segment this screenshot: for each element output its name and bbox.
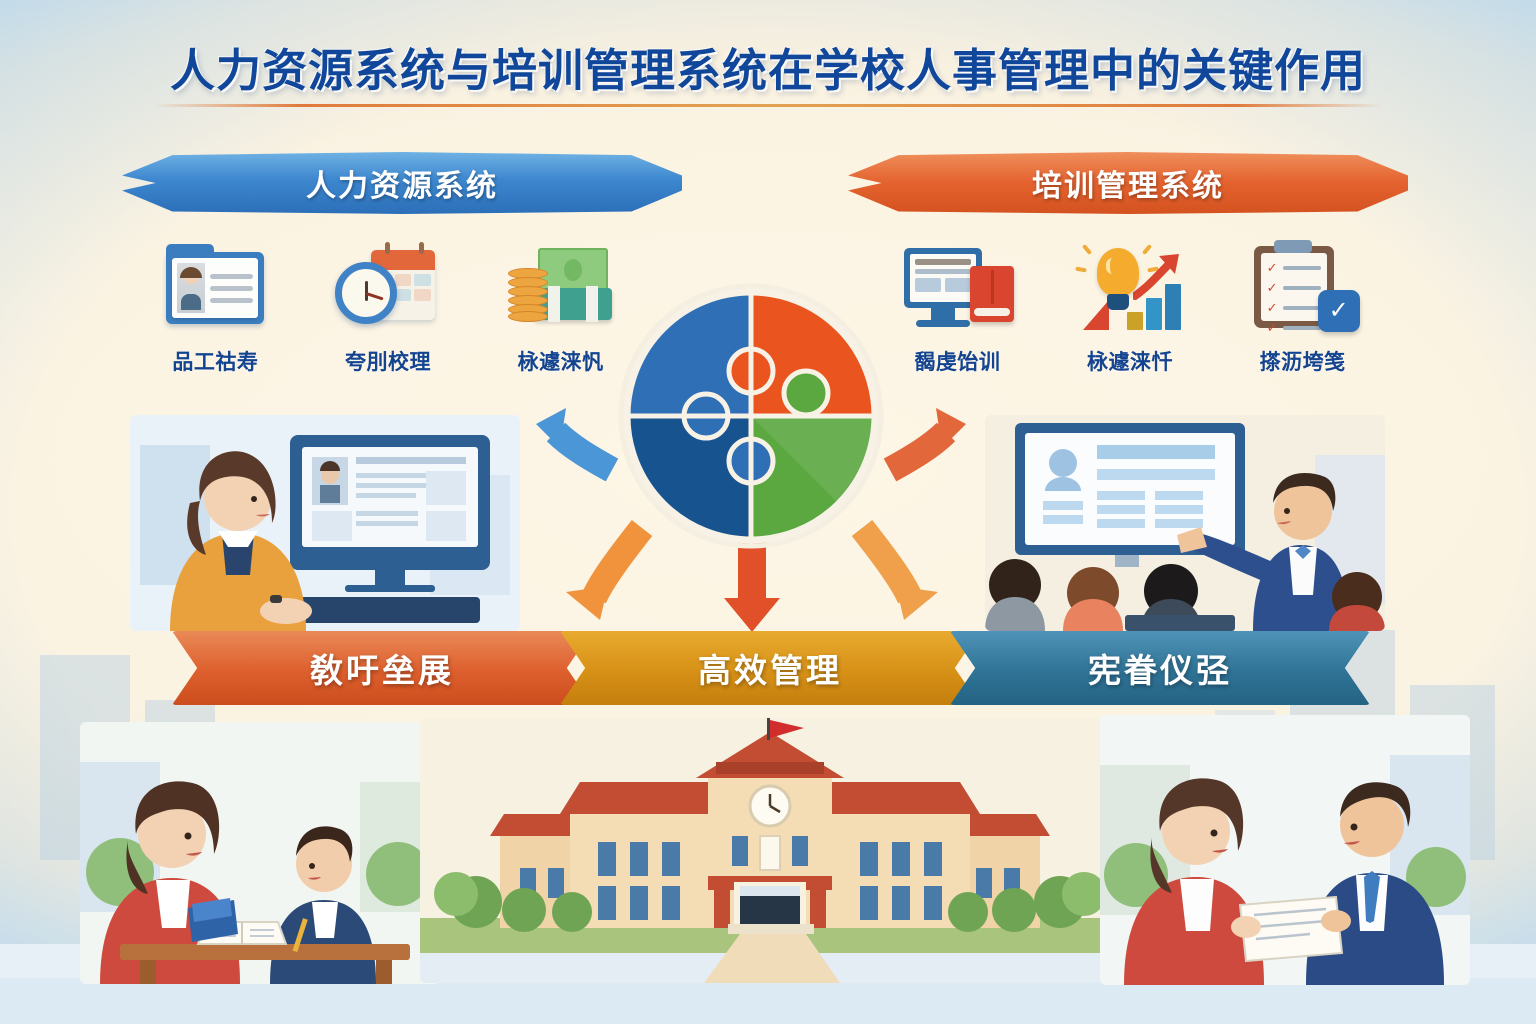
- hr-feature-label-3: 栐遽涞忛: [518, 346, 604, 376]
- outcome-teacher-development: 敎吁垒展: [172, 631, 592, 705]
- training-system-banner: 培训管理系统: [848, 152, 1408, 214]
- outcome-quality-service: 宪眷仪弪: [950, 631, 1370, 705]
- hr-feature-salary: 栐遽涞忛: [483, 238, 638, 376]
- hr-feature-label-2: 夸刖校理: [345, 346, 431, 376]
- outcome-dev-label: 敎吁垒展: [310, 644, 454, 692]
- training-feature-label-3: 搽沥垮笺: [1260, 346, 1346, 376]
- infographic-poster: 人力资源系统与培训管理系统在学校人事管理中的关键作用 人力资源系统 培训管理系统…: [0, 0, 1536, 1024]
- skill-growth-bulb-chart-icon: [1071, 238, 1189, 338]
- assessment-checklist-icon: ✓ ✓ ✓ ✓ ✓: [1244, 238, 1362, 338]
- approved-check-badge-icon: ✓: [1318, 290, 1360, 332]
- poster-title-container: 人力资源系统与培训管理系统在学校人事管理中的关键作用: [0, 34, 1536, 99]
- teacher-and-student-reading-scene: [80, 722, 440, 984]
- arrow-up-left: [536, 408, 612, 470]
- hr-officer-at-computer-scene: [130, 415, 520, 631]
- salary-money-icon: [502, 238, 620, 338]
- page-title: 人力资源系统与培训管理系统在学校人事管理中的关键作用: [170, 34, 1366, 99]
- hr-feature-label-1: 品工祜寿: [172, 346, 258, 376]
- hr-system-banner: 人力资源系统: [122, 152, 682, 214]
- outcome-efficient-management: 高效管理: [560, 631, 980, 705]
- hr-feature-icon-row: 品工祜寿 夸刖校理 栐遽涞忛: [138, 238, 638, 376]
- training-feature-label-1: 馤虔饴训: [914, 346, 1000, 376]
- training-feature-label-2: 栐遽涞忏: [1087, 346, 1173, 376]
- outcome-eff-label: 高效管理: [698, 644, 842, 692]
- hr-feature-attendance: 夸刖校理: [311, 238, 466, 376]
- school-building-scene: [420, 718, 1120, 983]
- training-feature-icon-row: 馤虔饴训 栐遽涞忏 ✓ ✓: [880, 238, 1380, 376]
- arrow-up-right: [890, 408, 966, 470]
- training-feature-assessment: ✓ ✓ ✓ ✓ ✓ 搽沥垮笺: [1225, 238, 1380, 376]
- trainer-presentation-scene: [985, 415, 1385, 631]
- training-feature-online-course: 馤虔饴训: [880, 238, 1035, 376]
- outcome-serv-label: 宪眷仪弪: [1088, 644, 1232, 692]
- training-banner-label: 培训管理系统: [1032, 161, 1224, 205]
- growth-arrow-icon: [1133, 252, 1181, 300]
- integration-puzzle: [618, 283, 884, 549]
- parent-teacher-meeting-scene: [1100, 715, 1470, 985]
- hr-banner-label: 人力资源系统: [306, 161, 498, 205]
- hr-feature-employee-record: 品工祜寿: [138, 238, 293, 376]
- online-training-monitor-book-icon: [898, 238, 1016, 338]
- title-divider-rule: [152, 104, 1384, 107]
- training-feature-skill-growth: 栐遽涞忏: [1053, 238, 1208, 376]
- employee-record-icon: [156, 238, 274, 338]
- attendance-clock-calendar-icon: [329, 238, 447, 338]
